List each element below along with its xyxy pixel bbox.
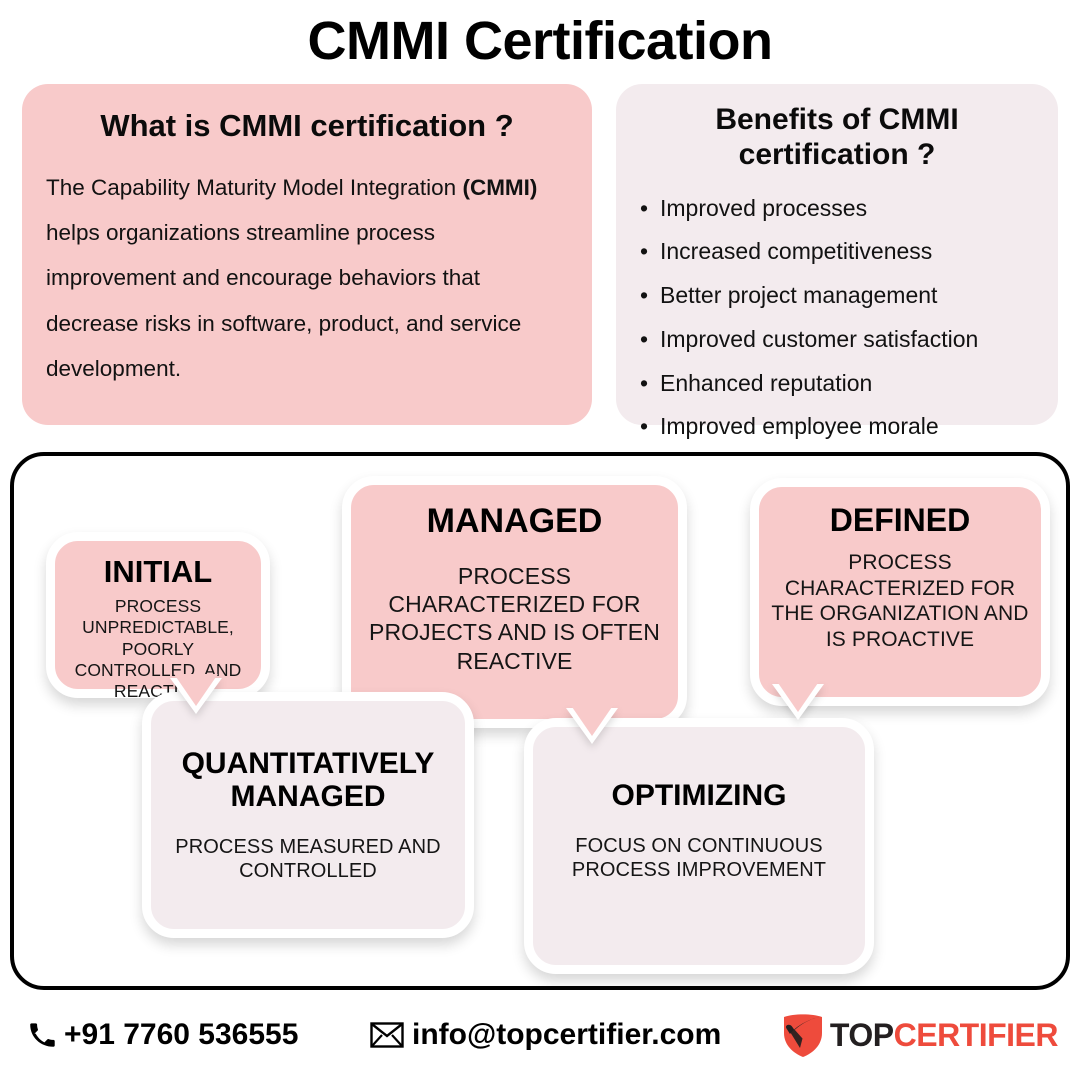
bubble-tail-defined-fill (776, 680, 820, 712)
maturity-bubble-quantitatively-managed: QUANTITATIVELY MANAGED PROCESS MEASURED … (142, 692, 474, 938)
maturity-bubble-managed: MANAGED PROCESS CHARACTERIZED FOR PROJEC… (342, 476, 687, 728)
phone-icon (28, 1020, 56, 1050)
what-is-cmmi-card: What is CMMI certification ? The Capabil… (22, 84, 592, 425)
logo-word-certifier: CERTIFIER (894, 1017, 1058, 1053)
cmmi-abbreviation: (CMMI) (462, 175, 537, 200)
bubble-desc-optimizing: FOCUS ON CONTINUOUS PROCESS IMPROVEMENT (545, 834, 853, 883)
list-item: Increased competitiveness (640, 230, 1034, 274)
logo-wordmark: TOPCERTIFIER (830, 1017, 1058, 1054)
bubble-desc-defined: PROCESS CHARACTERIZED FOR THE ORGANIZATI… (771, 550, 1029, 652)
bubble-title-optimizing: OPTIMIZING (545, 779, 853, 812)
what-body-rest: helps organizations streamline process i… (46, 220, 521, 381)
contact-email[interactable]: info@topcertifier.com (370, 1018, 721, 1052)
contact-phone[interactable]: +91 7760 536555 (28, 1018, 298, 1052)
phone-number: +91 7760 536555 (64, 1018, 298, 1052)
envelope-icon (370, 1022, 404, 1048)
list-item: Enhanced reputation (640, 362, 1034, 406)
maturity-bubble-initial: INITIAL PROCESS UNPREDICTABLE, POORLY CO… (46, 532, 270, 698)
maturity-bubble-optimizing: OPTIMIZING FOCUS ON CONTINUOUS PROCESS I… (524, 718, 874, 974)
list-item: Improved processes (640, 187, 1034, 231)
what-is-cmmi-heading: What is CMMI certification ? (46, 108, 568, 145)
maturity-bubble-defined: DEFINED PROCESS CHARACTERIZED FOR THE OR… (750, 478, 1050, 706)
list-item: Better project management (640, 274, 1034, 318)
page-title: CMMI Certification (0, 10, 1080, 72)
logo-word-top: TOP (830, 1017, 894, 1053)
benefits-heading: Benefits of CMMI certification ? (640, 102, 1034, 173)
list-item: Improved customer satisfaction (640, 318, 1034, 362)
bubble-tail-managed-fill (570, 704, 614, 736)
bubble-desc-managed: PROCESS CHARACTERIZED FOR PROJECTS AND I… (363, 562, 666, 674)
footer: +91 7760 536555 info@topcertifier.com TO… (0, 1000, 1080, 1070)
email-address: info@topcertifier.com (412, 1018, 721, 1052)
bubble-title-initial: INITIAL (67, 555, 249, 589)
benefits-list: Improved processes Increased competitive… (640, 187, 1034, 449)
bubble-title-managed: MANAGED (363, 503, 666, 540)
list-item: Improved employee morale (640, 405, 1034, 449)
bubble-desc-quantitatively-managed: PROCESS MEASURED AND CONTROLLED (163, 835, 453, 884)
bubble-title-quantitatively-managed: QUANTITATIVELY MANAGED (163, 747, 453, 813)
bubble-tail-initial-fill (174, 674, 218, 706)
what-is-cmmi-body: The Capability Maturity Model Integratio… (46, 165, 568, 392)
maturity-levels-panel: INITIAL PROCESS UNPREDICTABLE, POORLY CO… (10, 452, 1070, 990)
shield-check-icon (780, 1011, 826, 1059)
benefits-card: Benefits of CMMI certification ? Improve… (616, 84, 1058, 425)
topcertifier-logo[interactable]: TOPCERTIFIER (780, 1011, 1058, 1059)
bubble-title-defined: DEFINED (771, 503, 1029, 538)
what-body-lead: The Capability Maturity Model Integratio… (46, 175, 462, 200)
